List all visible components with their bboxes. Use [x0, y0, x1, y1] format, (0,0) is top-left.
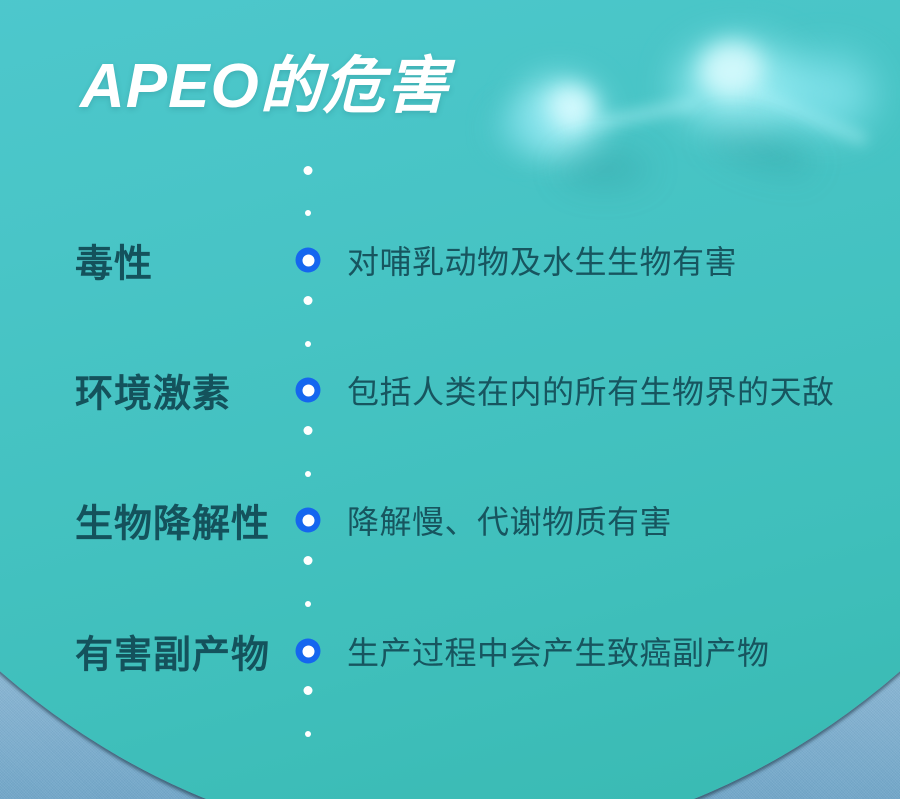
rail-dot [304, 556, 313, 565]
ring-bullet-icon [296, 508, 321, 533]
rail-dot [304, 426, 313, 435]
rail-dot [305, 341, 311, 347]
rail-dot [304, 166, 313, 175]
poster-canvas: APEO的危害 毒性对哺乳动物及水生生物有害环境激素包括人类在内的所有生物界的天… [0, 0, 900, 799]
ring-bullet-core [302, 254, 314, 266]
ring-bullet-core [302, 645, 314, 657]
hazard-label: 毒性 [75, 233, 153, 288]
rail-dot [305, 471, 311, 477]
hazard-label: 生物降解性 [75, 493, 270, 548]
ring-bullet-core [302, 384, 314, 396]
hazard-description: 包括人类在内的所有生物界的天敌 [347, 367, 835, 413]
rail-dot [304, 296, 313, 305]
hazard-description: 生产过程中会产生致癌副产物 [347, 628, 770, 674]
rail-dot [305, 210, 311, 216]
rail-dot [304, 686, 313, 695]
hazard-description: 对哺乳动物及水生生物有害 [347, 237, 737, 283]
ring-bullet-core [302, 514, 314, 526]
hazard-description: 降解慢、代谢物质有害 [347, 497, 672, 543]
hazard-label: 有害副产物 [75, 624, 270, 679]
ring-bullet-icon [296, 639, 321, 664]
ring-bullet-icon [296, 248, 321, 273]
rail-dot [305, 731, 311, 737]
rail-dot [305, 601, 311, 607]
hazard-label: 环境激素 [75, 363, 231, 418]
page-title: APEO的危害 [80, 56, 449, 118]
ring-bullet-icon [296, 378, 321, 403]
